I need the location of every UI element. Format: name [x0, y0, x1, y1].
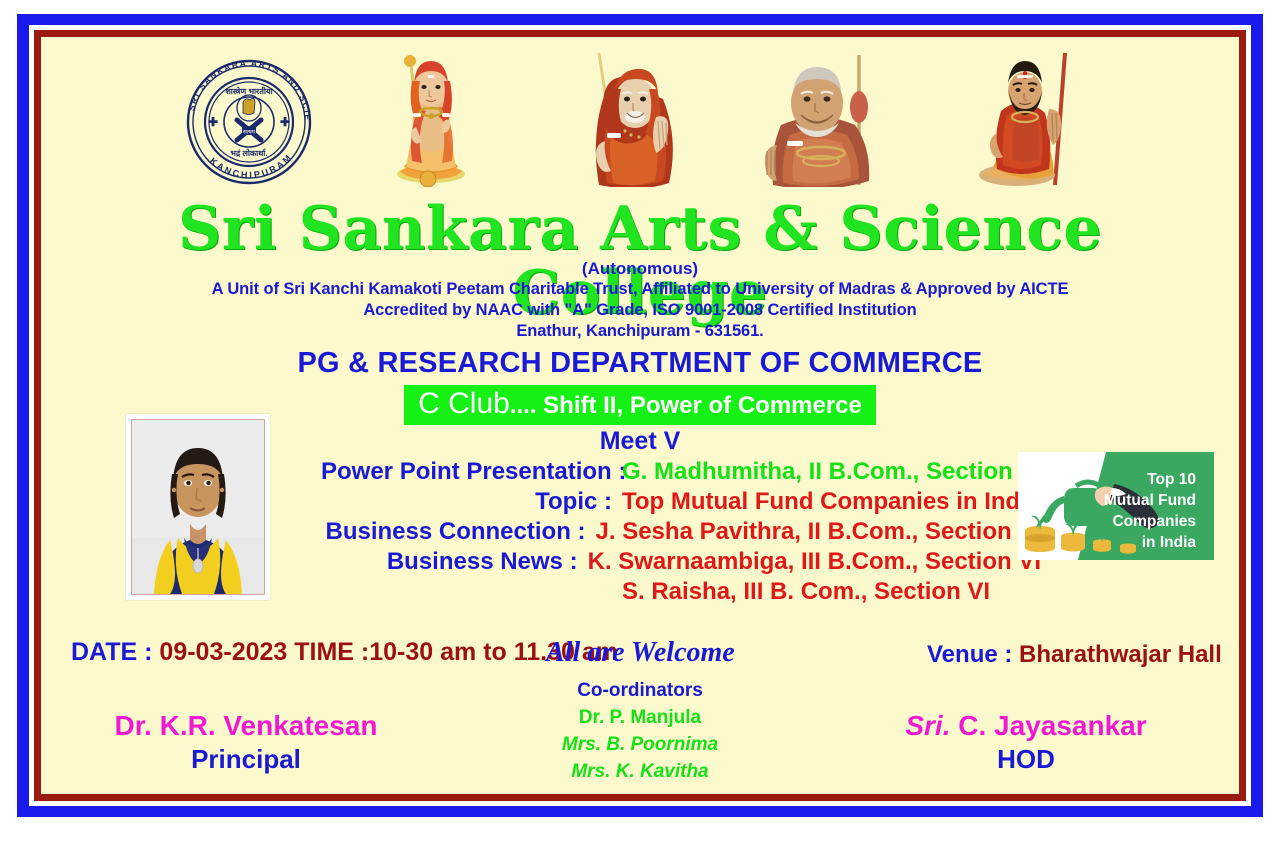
- detail-row-business-connection: Business Connection : J. Sesha Pavithra,…: [321, 518, 1041, 546]
- hod-name-rest: C. Jayasankar: [951, 710, 1147, 741]
- poster-canvas: SRI SANKARA ARTS AND SCIENCE COLLEGE KAN…: [41, 37, 1239, 794]
- college-seal-logo: SRI SANKARA ARTS AND SCIENCE COLLEGE KAN…: [183, 58, 315, 186]
- detail-label: Topic :: [321, 488, 622, 516]
- club-banner: C Club.... Shift II, Power of Commerce: [404, 385, 876, 425]
- institution-address: Enathur, Kanchipuram - 631561.: [41, 321, 1239, 342]
- svg-text:✚: ✚: [280, 115, 290, 129]
- seal-icon: SRI SANKARA ARTS AND SCIENCE COLLEGE KAN…: [183, 58, 315, 186]
- svg-text:✚: ✚: [208, 115, 218, 129]
- mutual-fund-graphic: Top 10 Mutual Fund Companies in India: [1018, 452, 1214, 560]
- adi-shankaracharya-portrait: [366, 49, 496, 192]
- jayendra-saraswathi-portrait: [751, 49, 891, 192]
- department-title: PG & RESEARCH DEPARTMENT OF COMMERCE: [41, 347, 1239, 380]
- principal-name: Dr. K.R. Venkatesan: [81, 709, 411, 743]
- hod-name-prefix: Sri.: [905, 710, 950, 741]
- svg-text:सत्यम: सत्यम: [243, 130, 256, 136]
- hod-role: HOD: [861, 743, 1191, 775]
- venue-value: Bharathwajar Hall: [1019, 641, 1222, 668]
- detail-value: G. Madhumitha, II B.Com., Section V: [622, 458, 1035, 486]
- affiliation-line-2: Accredited by NAAC with "A" Grade, ISO 9…: [41, 300, 1239, 321]
- presenter-portrait: [132, 420, 264, 594]
- detail-row-business-news: Business News : K. Swarnaambiga, III B.C…: [321, 548, 1041, 576]
- club-name: C Club: [418, 387, 510, 420]
- principal-signature-block: Dr. K.R. Venkatesan Principal: [81, 709, 411, 775]
- principal-role: Principal: [81, 743, 411, 775]
- svg-text:भद्रं लोकार्था.: भद्रं लोकार्था.: [230, 148, 267, 158]
- detail-label: Business Connection :: [321, 518, 596, 546]
- hod-signature-block: Sri. C. Jayasankar HOD: [861, 709, 1191, 775]
- date-time-line: DATE : 09-03-2023 TIME :10-30 am to 11.3…: [71, 638, 618, 667]
- presenter-photo: [126, 414, 270, 600]
- detail-value: K. Swarnaambiga, III B.Com., Section VI: [588, 548, 1041, 576]
- poster-root: SRI SANKARA ARTS AND SCIENCE COLLEGE KAN…: [0, 0, 1280, 853]
- detail-row-business-news-2: Business News : S. Raisha, III B. Com., …: [321, 578, 1041, 606]
- autonomous-label: (Autonomous): [41, 259, 1239, 279]
- date-label: DATE :: [71, 638, 159, 666]
- header-band: SRI SANKARA ARTS AND SCIENCE COLLEGE KAN…: [41, 37, 1239, 187]
- all-are-welcome: All are Welcome: [546, 637, 735, 669]
- affiliation-block: A Unit of Sri Kanchi Kamakoti Peetam Cha…: [41, 279, 1239, 342]
- detail-value: S. Raisha, III B. Com., Section VI: [622, 578, 990, 606]
- detail-label: Power Point Presentation :: [321, 458, 622, 486]
- venue-label: Venue :: [927, 641, 1019, 668]
- event-details: Power Point Presentation : G. Madhumitha…: [321, 458, 1041, 608]
- vijayendra-saraswathi-portrait: [971, 49, 1101, 192]
- presenter-photo-inner: [131, 419, 265, 595]
- detail-row-presentation: Power Point Presentation : G. Madhumitha…: [321, 458, 1041, 486]
- detail-row-topic: Topic : Top Mutual Fund Companies in Ind…: [321, 488, 1041, 516]
- affiliation-line-1: A Unit of Sri Kanchi Kamakoti Peetam Cha…: [41, 279, 1239, 300]
- mutual-fund-illustration: Top 10 Mutual Fund Companies in India: [1018, 452, 1214, 560]
- club-tagline: .... Shift II, Power of Commerce: [510, 392, 862, 419]
- maha-periyava-portrait: [561, 49, 691, 192]
- coordinators-title: Co-ordinators: [41, 677, 1239, 704]
- hod-name: Sri. C. Jayasankar: [861, 709, 1191, 743]
- detail-value: Top Mutual Fund Companies in India: [622, 488, 1040, 516]
- venue-line: Venue : Bharathwajar Hall: [927, 641, 1222, 669]
- mf-line-1: Top 10: [1147, 471, 1196, 488]
- mf-line-2: Mutual Fund: [1104, 492, 1196, 509]
- mf-line-4: in India: [1142, 534, 1197, 551]
- mf-line-3: Companies: [1112, 513, 1196, 530]
- detail-value: J. Sesha Pavithra, II B.Com., Section VI: [596, 518, 1041, 546]
- detail-label: Business News :: [321, 548, 588, 576]
